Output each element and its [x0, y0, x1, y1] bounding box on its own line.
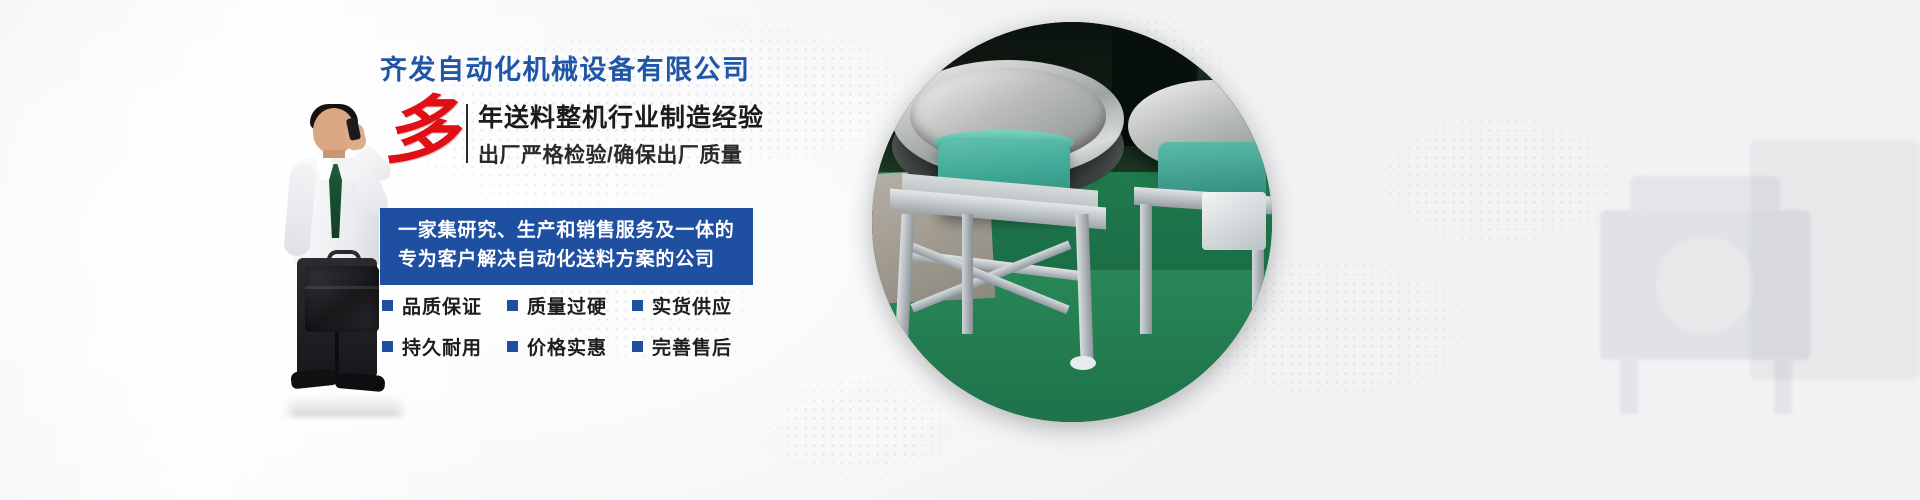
ghost-leg-shape: [1620, 356, 1638, 414]
feature-label: 质量过硬: [527, 292, 607, 319]
highlight-line-2: 专为客户解决自动化送料方案的公司: [398, 246, 735, 275]
feature-label: 完善售后: [652, 333, 732, 360]
feature-item: 持久耐用: [382, 333, 507, 360]
ghost-block-shape: [1750, 140, 1920, 380]
feature-label: 持久耐用: [402, 333, 482, 360]
shoe-right-shape: [334, 372, 385, 392]
feature-item: 价格实惠: [507, 333, 632, 360]
slogan-lines: 年送料整机行业制造经验 出厂严格检验/确保出厂质量: [478, 98, 764, 169]
feature-row: 持久耐用 价格实惠 完善售后: [382, 333, 762, 360]
highlight-line-1: 一家集研究、生产和销售服务及一体的: [398, 217, 735, 246]
background-machinery-ghost-secondary: [1740, 120, 1920, 420]
feature-item: 品质保证: [382, 292, 507, 319]
stand-foot: [1070, 356, 1096, 370]
banner-copy-block: 齐发自动化机械设备有限公司 多 年送料整机行业制造经验 出厂严格检验/确保出厂质…: [380, 56, 780, 169]
bullet-square-icon: [632, 300, 643, 311]
bullet-square-icon: [382, 341, 393, 352]
bullet-square-icon: [507, 341, 518, 352]
company-title: 齐发自动化机械设备有限公司: [380, 56, 780, 86]
feature-list: 品质保证 质量过硬 实货供应 持久耐用 价格实惠 完善售后: [382, 292, 762, 374]
control-module: [1202, 192, 1266, 250]
promo-banner: 齐发自动化机械设备有限公司 多 年送料整机行业制造经验 出厂严格检验/确保出厂质…: [0, 0, 1920, 500]
product-photo-circle: [872, 22, 1272, 422]
feature-item: 完善售后: [632, 333, 757, 360]
bullet-square-icon: [507, 300, 518, 311]
feature-row: 品质保证 质量过硬 实货供应: [382, 292, 762, 319]
slogan-row: 多 年送料整机行业制造经验 出厂严格检验/确保出厂质量: [380, 98, 780, 169]
slogan-big-character: 多: [380, 101, 464, 166]
feature-label: 实货供应: [652, 292, 732, 319]
briefcase-icon: [305, 266, 379, 332]
slogan-divider: [466, 104, 468, 163]
feature-item: 质量过硬: [507, 292, 632, 319]
feature-item: 实货供应: [632, 292, 757, 319]
slogan-line-1: 年送料整机行业制造经验: [478, 98, 764, 134]
second-stand-leg: [1140, 204, 1152, 334]
highlight-box: 一家集研究、生产和销售服务及一体的 专为客户解决自动化送料方案的公司: [380, 208, 753, 285]
bullet-square-icon: [632, 341, 643, 352]
floor-reflection: [289, 395, 401, 417]
shoe-left-shape: [290, 368, 338, 390]
stand-leg: [962, 214, 973, 334]
slogan-line-2: 出厂严格检验/确保出厂质量: [478, 139, 764, 169]
feature-label: 品质保证: [402, 292, 482, 319]
stand-foot: [890, 348, 916, 362]
feature-label: 价格实惠: [527, 333, 607, 360]
bullet-square-icon: [382, 300, 393, 311]
